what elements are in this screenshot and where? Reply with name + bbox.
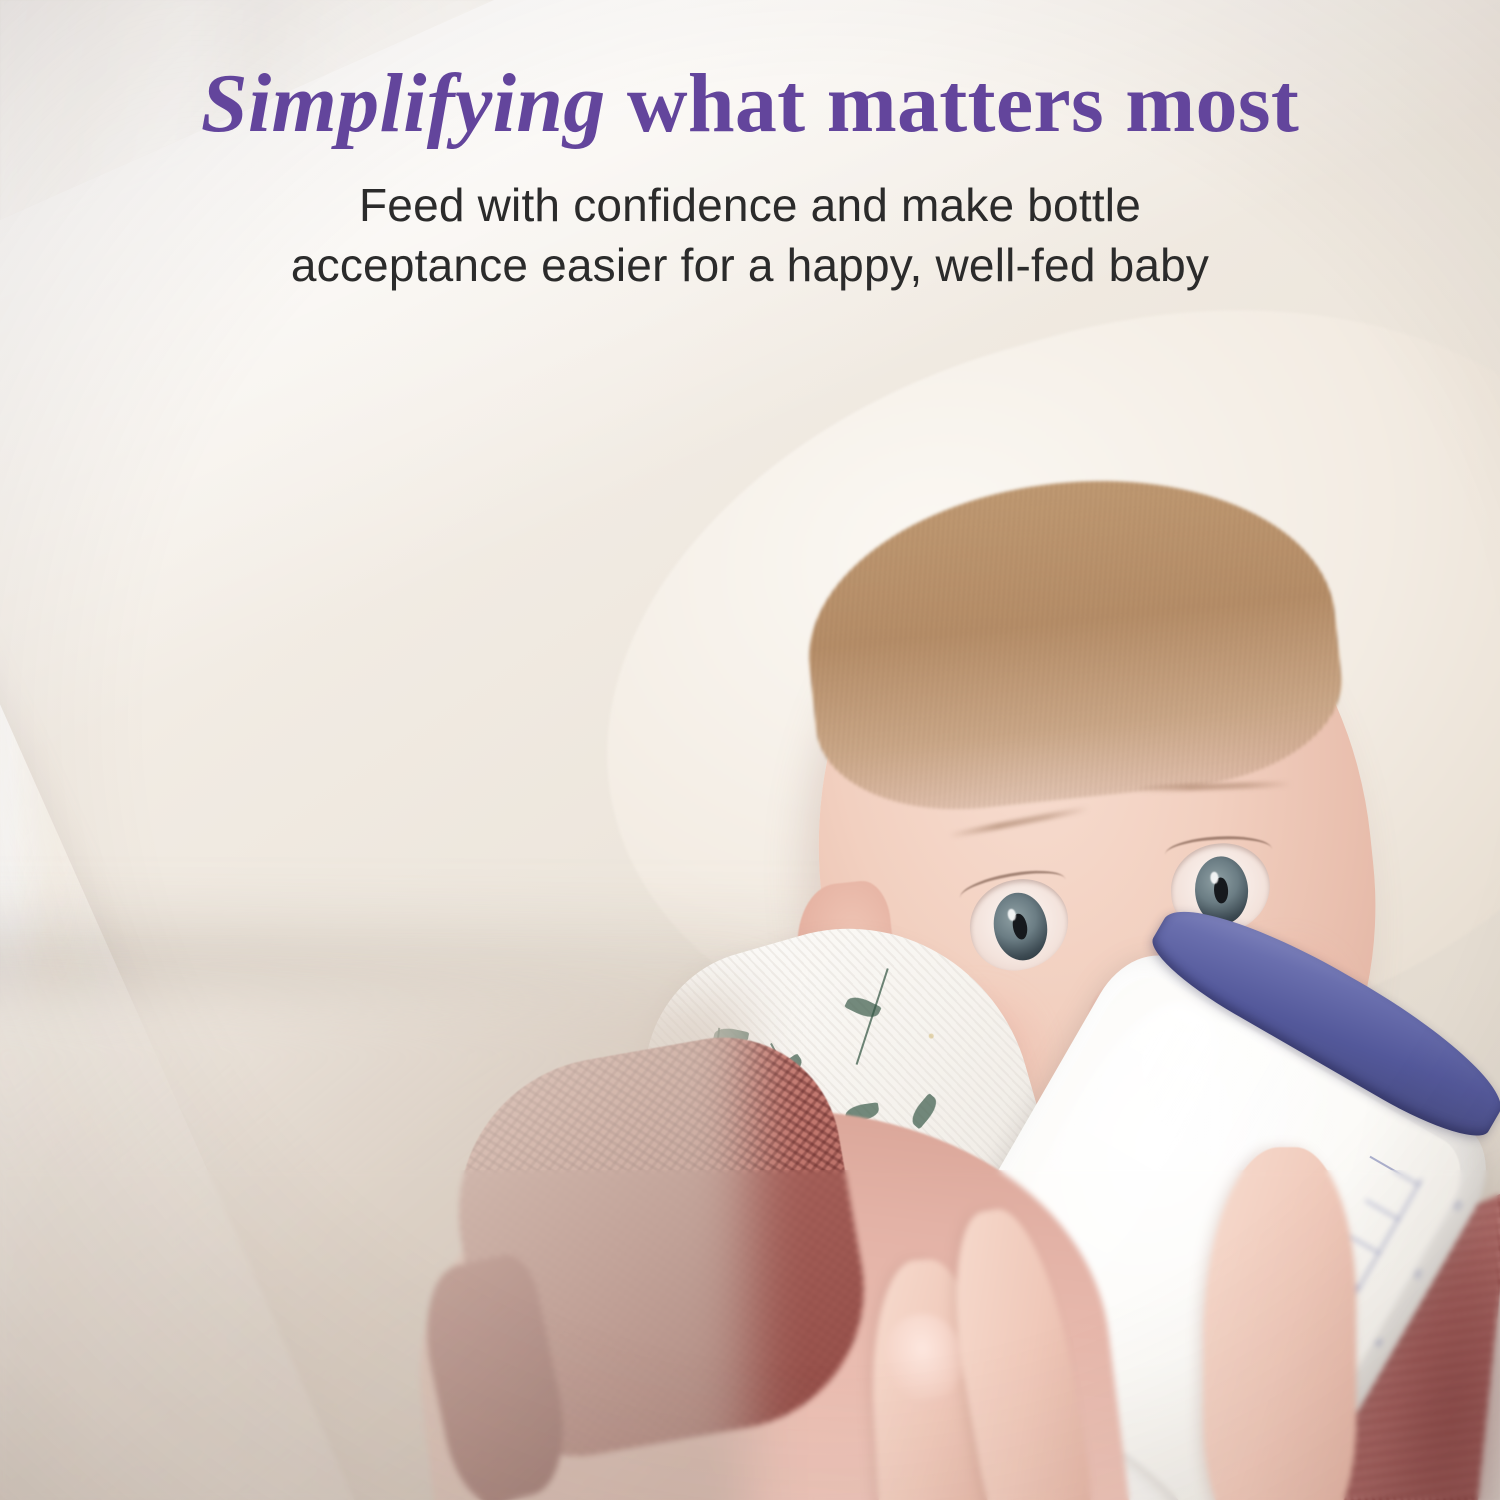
hand-thumb xyxy=(1203,1148,1356,1500)
headline: Simplifying what matters most xyxy=(0,62,1500,146)
headline-emphasis-word: Simplifying xyxy=(201,57,606,150)
foreground-blur-haze xyxy=(0,990,750,1500)
botanical-leaf xyxy=(844,993,881,1022)
baby-eye-left xyxy=(963,872,1076,978)
subtitle-line-1: Feed with confidence and make bottle xyxy=(0,176,1500,236)
botanical-leaf xyxy=(907,1093,941,1129)
promo-image-canvas: 8 6 4 2 Simplifying what matters most Fe… xyxy=(0,0,1500,1500)
text-overlay: Simplifying what matters most Feed with … xyxy=(0,62,1500,296)
subtitle-block: Feed with confidence and make bottle acc… xyxy=(0,176,1500,296)
subtitle-line-2: acceptance easier for a happy, well-fed … xyxy=(0,236,1500,296)
headline-rest: what matters most xyxy=(606,57,1300,150)
